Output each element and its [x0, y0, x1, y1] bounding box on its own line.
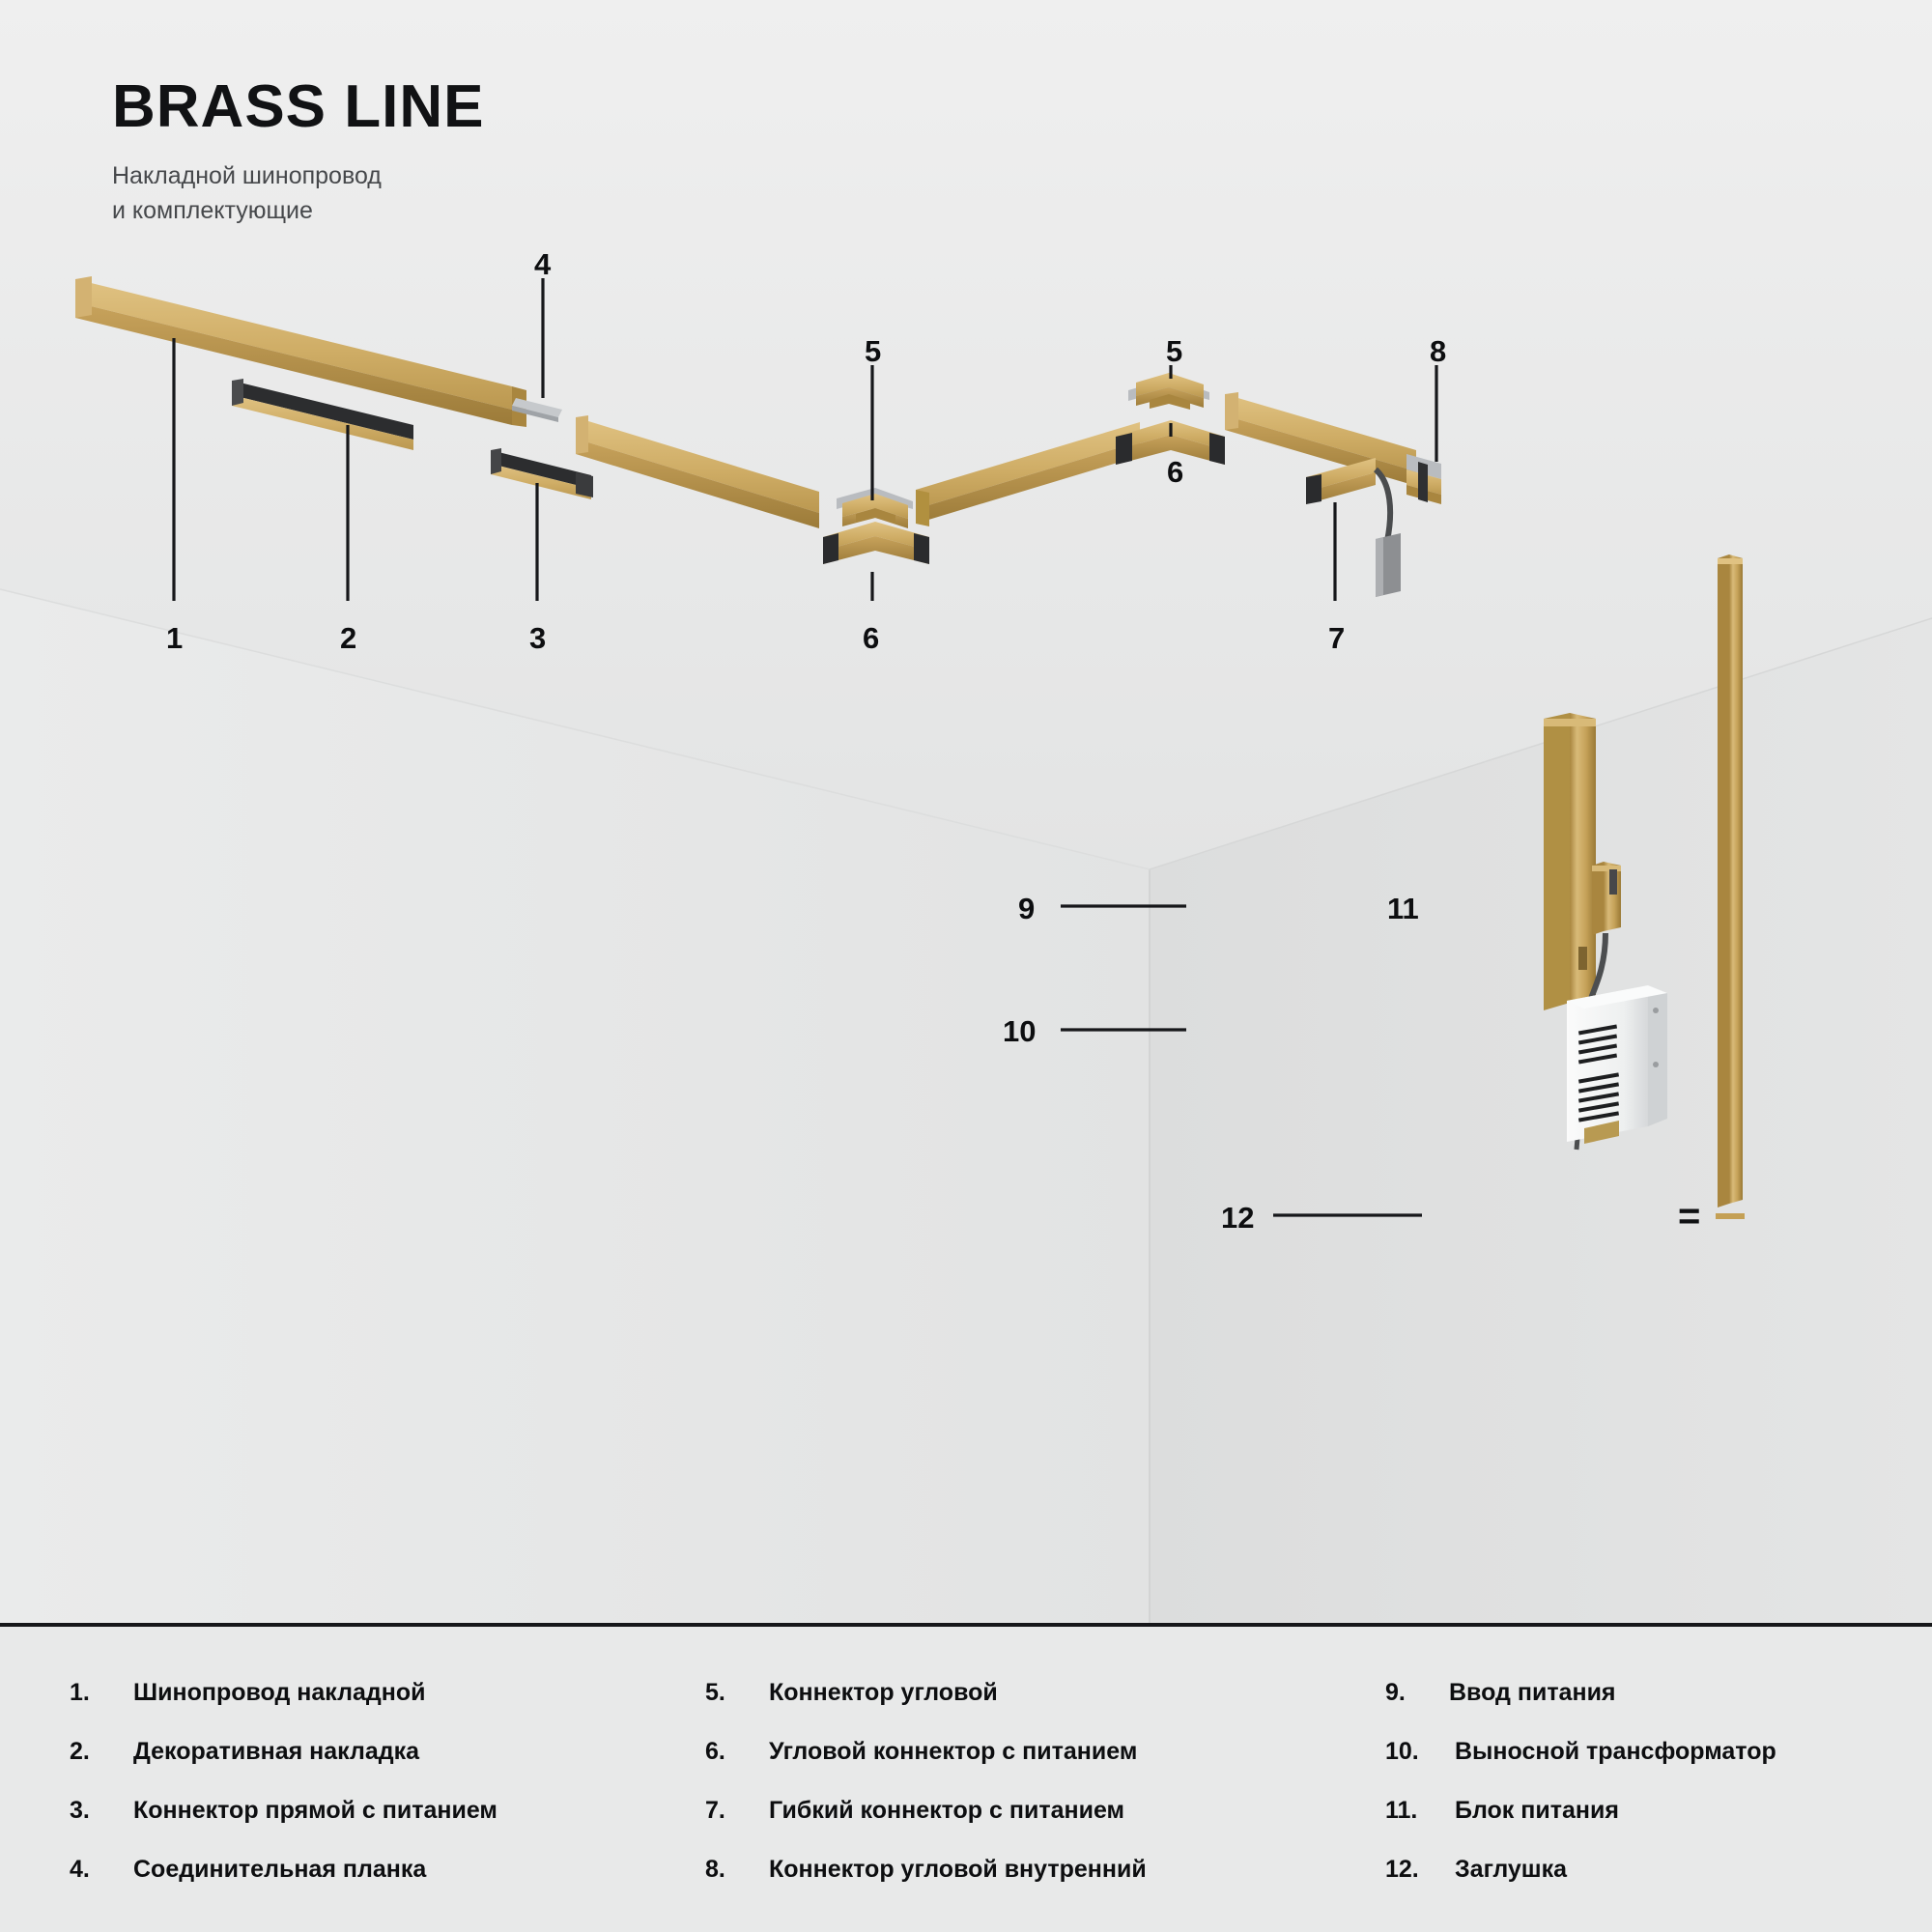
legend-item: 1.Шинопровод накладной	[70, 1679, 676, 1707]
legend-list: 1.Шинопровод накладной2.Декоративная нак…	[0, 1623, 1932, 1932]
callout-number-2: 2	[340, 623, 356, 653]
legend-item-index: 2.	[70, 1738, 133, 1766]
callout-number-5a: 5	[865, 336, 881, 366]
legend-item: 2.Декоративная накладка	[70, 1738, 676, 1766]
legend-column-1: 1.Шинопровод накладной2.Декоративная нак…	[0, 1679, 676, 1932]
callout-number-5b: 5	[1166, 336, 1182, 366]
legend-item: 6.Угловой коннектор с питанием	[705, 1738, 1352, 1766]
legend-item-index: 4.	[70, 1856, 133, 1884]
legend-item-label: Блок питания	[1455, 1797, 1619, 1825]
product-scene-3d: BRASS LINE Накладной шинопровод и компле…	[0, 0, 1932, 1623]
legend-item-label: Ввод питания	[1449, 1679, 1616, 1707]
callout-number-4: 4	[534, 249, 551, 279]
callout-number-8: 8	[1430, 336, 1446, 366]
legend-item-label: Гибкий коннектор с питанием	[769, 1797, 1124, 1825]
legend-item-label: Декоративная накладка	[133, 1738, 419, 1766]
legend-item: 5.Коннектор угловой	[705, 1679, 1352, 1707]
legend-item-label: Соединительная планка	[133, 1856, 426, 1884]
legend-item-index: 8.	[705, 1856, 769, 1884]
callout-number-3: 3	[529, 623, 546, 653]
page-title: BRASS LINE	[112, 75, 484, 138]
page-subtitle: Накладной шинопровод и комплектующие	[112, 159, 484, 228]
legend-footer: 1.Шинопровод накладной2.Декоративная нак…	[0, 1623, 1932, 1932]
legend-column-3: 9.Ввод питания10.Выносной трансформатор1…	[1352, 1679, 1932, 1932]
callout-number-6b: 6	[1167, 457, 1183, 487]
legend-item-index: 1.	[70, 1679, 133, 1707]
callout-number-10: 10	[1003, 1016, 1036, 1046]
legend-item-label: Выносной трансформатор	[1455, 1738, 1776, 1766]
callout-number-12: 12	[1221, 1203, 1254, 1233]
legend-item-index: 5.	[705, 1679, 769, 1707]
legend-item-label: Шинопровод накладной	[133, 1679, 426, 1707]
legend-item-label: Коннектор угловой	[769, 1679, 998, 1707]
vertical-rail-with-cap	[1716, 554, 1745, 1219]
legend-item-index: 9.	[1385, 1679, 1449, 1707]
legend-item-index: 7.	[705, 1797, 769, 1825]
legend-item: 10.Выносной трансформатор	[1385, 1738, 1932, 1766]
legend-item: 12.Заглушка	[1385, 1856, 1932, 1884]
legend-item-index: 3.	[70, 1797, 133, 1825]
legend-column-2: 5.Коннектор угловой6.Угловой коннектор с…	[676, 1679, 1352, 1932]
legend-item: 11.Блок питания	[1385, 1797, 1932, 1825]
equals-sign: =	[1678, 1197, 1700, 1236]
callout-number-7: 7	[1328, 623, 1345, 653]
callout-number-6a: 6	[863, 623, 879, 653]
room-geometry	[0, 0, 1932, 1623]
legend-item: 3.Коннектор прямой с питанием	[70, 1797, 676, 1825]
legend-item-index: 11.	[1385, 1797, 1455, 1825]
legend-item-label: Заглушка	[1455, 1856, 1567, 1884]
subtitle-line-2: и комплектующие	[112, 194, 484, 229]
scene-illustration	[0, 0, 1932, 1623]
legend-item-index: 6.	[705, 1738, 769, 1766]
header-block: BRASS LINE Накладной шинопровод и компле…	[112, 75, 484, 228]
legend-item-index: 12.	[1385, 1856, 1455, 1884]
legend-item-label: Коннектор прямой с питанием	[133, 1797, 497, 1825]
callout-number-9: 9	[1018, 894, 1035, 923]
callout-number-1: 1	[166, 623, 183, 653]
legend-item: 9.Ввод питания	[1385, 1679, 1932, 1707]
callout-number-11: 11	[1387, 894, 1419, 923]
legend-item: 4.Соединительная планка	[70, 1856, 676, 1884]
legend-item-index: 10.	[1385, 1738, 1455, 1766]
legend-item-label: Угловой коннектор с питанием	[769, 1738, 1137, 1766]
remote-transformer	[1567, 985, 1667, 1144]
legend-item: 7.Гибкий коннектор с питанием	[705, 1797, 1352, 1825]
legend-item: 8.Коннектор угловой внутренний	[705, 1856, 1352, 1884]
subtitle-line-1: Накладной шинопровод	[112, 159, 484, 194]
legend-item-label: Коннектор угловой внутренний	[769, 1856, 1147, 1884]
